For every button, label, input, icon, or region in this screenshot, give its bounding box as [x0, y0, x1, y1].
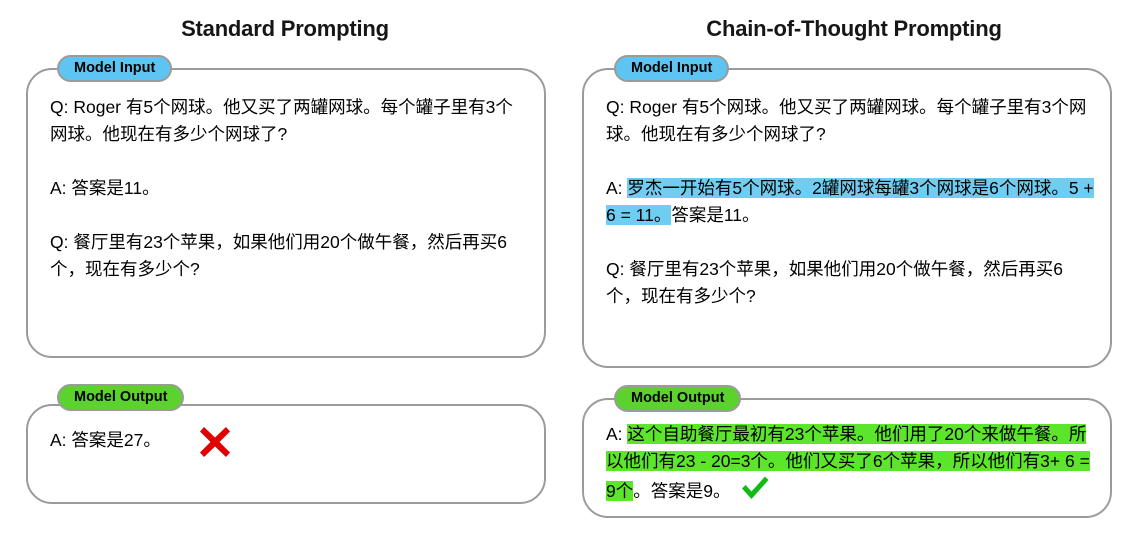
cot-model-output-card: A: 这个自助餐厅最初有23个苹果。他们用了20个来做午餐。所以他们有23 - …	[582, 398, 1112, 518]
standard-input-paragraph-2: A: 答案是11。	[50, 175, 528, 202]
figure-root: Standard Prompting Q: Roger 有5个网球。他又买了两罐…	[0, 0, 1139, 556]
cot-input-paragraph-3: Q: 餐厅里有23个苹果，如果他们用20个做午餐，然后再买6个，现在有多少个?	[606, 256, 1094, 310]
check-icon	[740, 475, 770, 501]
cot-output-answer-tail: 。答案是9。	[633, 481, 730, 501]
cot-model-input-card: Q: Roger 有5个网球。他又买了两罐网球。每个罐子里有3个网球。他现在有多…	[582, 68, 1112, 368]
standard-model-input-text: Q: Roger 有5个网球。他又买了两罐网球。每个罐子里有3个网球。他现在有多…	[50, 94, 528, 283]
standard-model-input-card: Q: Roger 有5个网球。他又买了两罐网球。每个罐子里有3个网球。他现在有多…	[26, 68, 546, 358]
standard-model-output-badge: Model Output	[57, 384, 184, 411]
column-chain-of-thought-prompting: Q: Roger 有5个网球。他又买了两罐网球。每个罐子里有3个网球。他现在有多…	[569, 0, 1139, 556]
cot-input-paragraph-1: Q: Roger 有5个网球。他又买了两罐网球。每个罐子里有3个网球。他现在有多…	[606, 94, 1094, 148]
standard-output-answer-line: A: 答案是27。	[50, 427, 528, 454]
cot-input-answer-prefix: A:	[606, 178, 627, 198]
standard-input-paragraph-3: Q: 餐厅里有23个苹果，如果他们用20个做午餐，然后再买6个，现在有多少个?	[50, 229, 528, 283]
standard-output-answer-text: 答案是27。	[71, 430, 160, 450]
cot-output-answer-line: A: 这个自助餐厅最初有23个苹果。他们用了20个来做午餐。所以他们有23 - …	[606, 421, 1094, 505]
cot-input-paragraph-2: A: 罗杰一开始有5个网球。2罐网球每罐3个网球是6个网球。5 + 6 = 11…	[606, 175, 1094, 229]
cot-output-answer-prefix: A:	[606, 424, 627, 444]
cot-model-input-badge: Model Input	[614, 55, 729, 82]
cot-input-answer-tail: 答案是11。	[671, 205, 759, 225]
standard-model-output-text: A: 答案是27。	[50, 427, 528, 454]
cot-model-input-text: Q: Roger 有5个网球。他又买了两罐网球。每个罐子里有3个网球。他现在有多…	[606, 94, 1094, 310]
column-standard-prompting: Q: Roger 有5个网球。他又买了两罐网球。每个罐子里有3个网球。他现在有多…	[0, 0, 570, 556]
standard-model-input-badge: Model Input	[57, 55, 172, 82]
cross-icon	[198, 425, 232, 459]
standard-output-answer-prefix: A:	[50, 430, 71, 450]
standard-model-output-card: A: 答案是27。	[26, 404, 546, 504]
standard-input-paragraph-1: Q: Roger 有5个网球。他又买了两罐网球。每个罐子里有3个网球。他现在有多…	[50, 94, 528, 148]
cot-model-output-text: A: 这个自助餐厅最初有23个苹果。他们用了20个来做午餐。所以他们有23 - …	[606, 421, 1094, 505]
cot-model-output-badge: Model Output	[614, 385, 741, 412]
